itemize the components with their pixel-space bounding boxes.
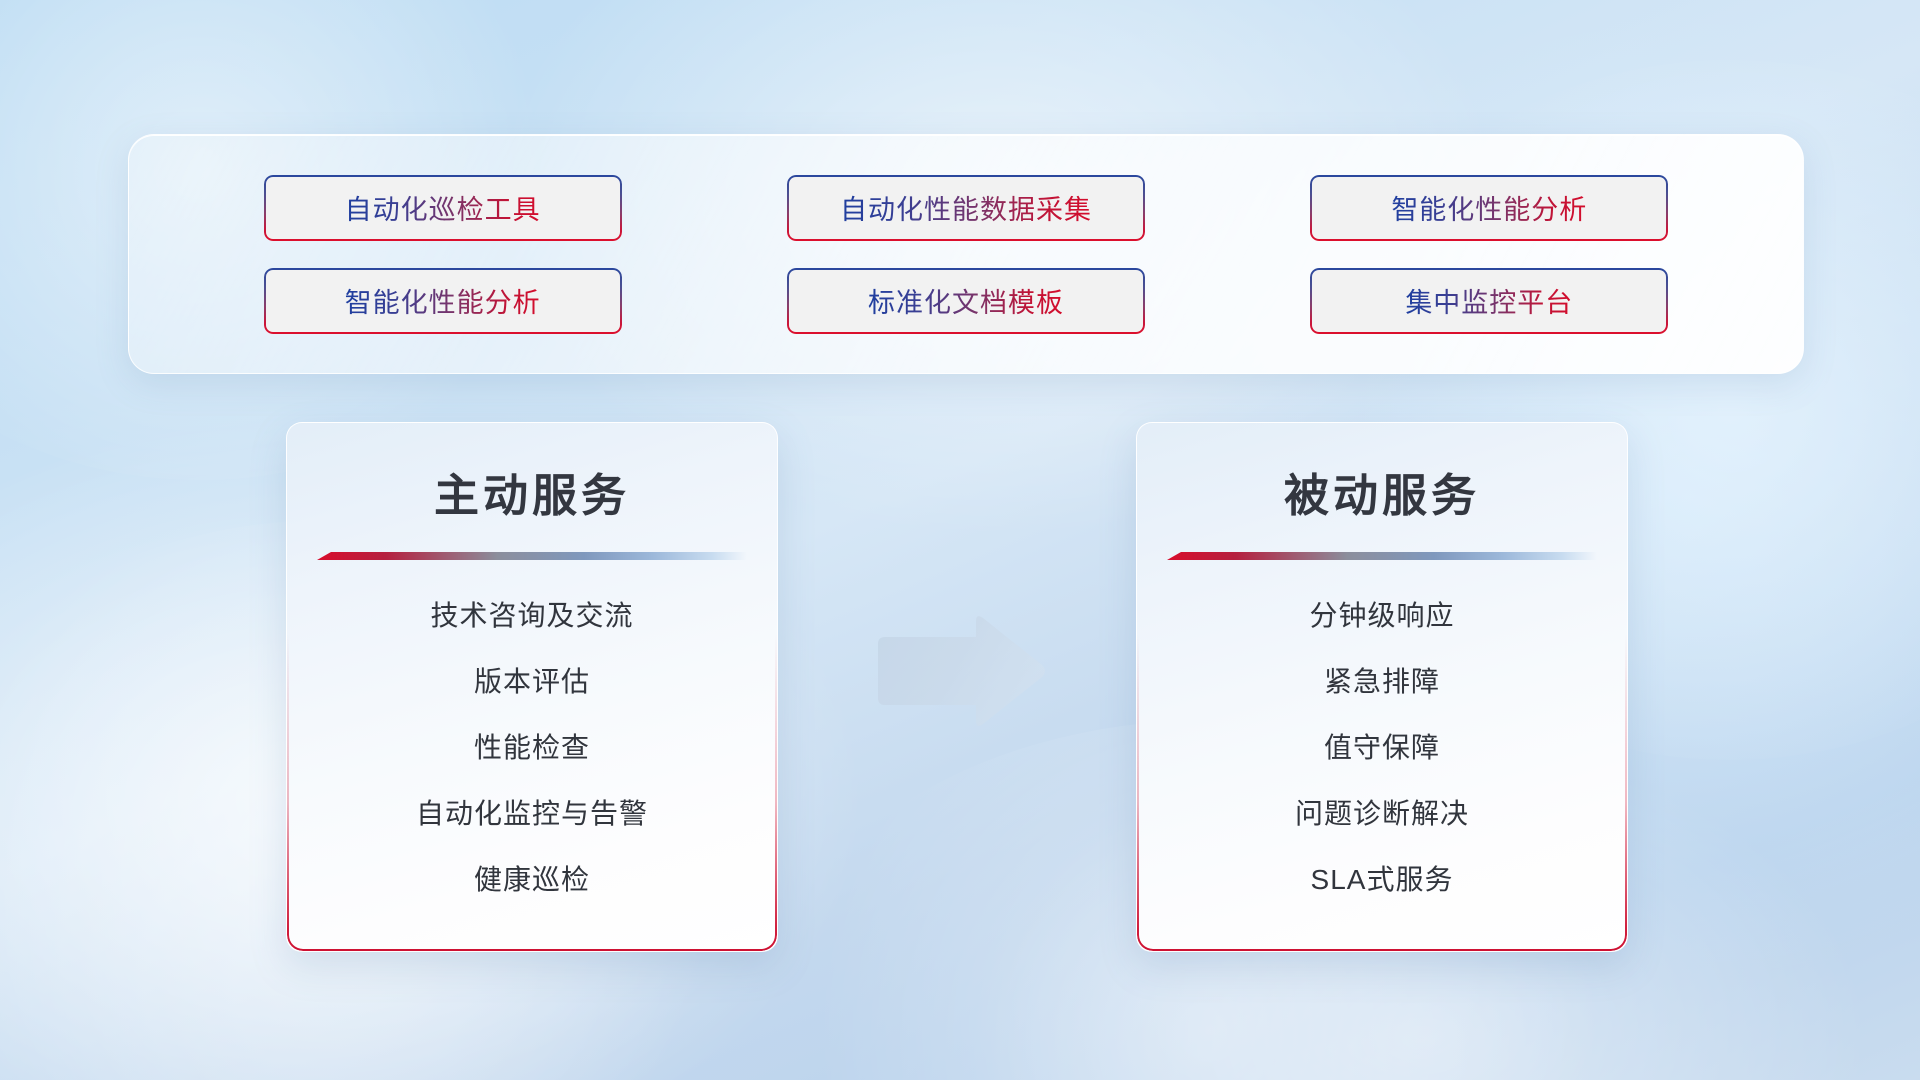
service-list-item: 自动化监控与告警 (287, 792, 777, 832)
service-list-item: 版本评估 (287, 660, 777, 700)
service-list-item: 分钟级响应 (1137, 594, 1627, 634)
capability-tag-label: 自动化性能数据采集 (840, 188, 1092, 227)
arrow-right-icon (872, 612, 1048, 730)
capability-tag-label: 标准化文档模板 (868, 281, 1064, 320)
service-list-item: 值守保障 (1137, 726, 1627, 766)
service-card-title: 被动服务 (1137, 459, 1627, 524)
service-item-list: 分钟级响应 紧急排障 值守保障 问题诊断解决 SLA式服务 (1137, 594, 1627, 898)
service-list-item: 健康巡检 (287, 858, 777, 898)
capability-tag[interactable]: 集中监控平台 (1310, 268, 1668, 334)
service-list-item: 紧急排障 (1137, 660, 1627, 700)
title-divider (1167, 552, 1597, 560)
service-card-passive[interactable]: 被动服务 分钟级响应 紧急排障 值守保障 问题诊断解决 SLA式服务 (1136, 422, 1628, 952)
title-divider (317, 552, 747, 560)
service-card-title: 主动服务 (287, 459, 777, 524)
infographic-canvas: 自动化巡检工具 自动化性能数据采集 智能化性能分析 智能化性能分析 标准化文档模… (0, 0, 1920, 1080)
capability-tag[interactable]: 智能化性能分析 (1310, 175, 1668, 241)
capability-panel: 自动化巡检工具 自动化性能数据采集 智能化性能分析 智能化性能分析 标准化文档模… (128, 134, 1804, 374)
capability-tag-label: 智能化性能分析 (1391, 188, 1587, 227)
service-item-list: 技术咨询及交流 版本评估 性能检查 自动化监控与告警 健康巡检 (287, 594, 777, 898)
service-list-item: 性能检查 (287, 726, 777, 766)
capability-tag[interactable]: 自动化巡检工具 (264, 175, 622, 241)
capability-tag-label: 智能化性能分析 (345, 281, 541, 320)
capability-tag[interactable]: 自动化性能数据采集 (787, 175, 1145, 241)
service-list-item: 问题诊断解决 (1137, 792, 1627, 832)
capability-tag[interactable]: 标准化文档模板 (787, 268, 1145, 334)
capability-tag-label: 自动化巡检工具 (345, 188, 541, 227)
service-list-item: SLA式服务 (1137, 858, 1627, 898)
capability-tag[interactable]: 智能化性能分析 (264, 268, 622, 334)
capability-tag-label: 集中监控平台 (1405, 281, 1573, 320)
service-list-item: 技术咨询及交流 (287, 594, 777, 634)
service-card-active[interactable]: 主动服务 技术咨询及交流 版本评估 性能检查 自动化监控与告警 健康巡检 (286, 422, 778, 952)
